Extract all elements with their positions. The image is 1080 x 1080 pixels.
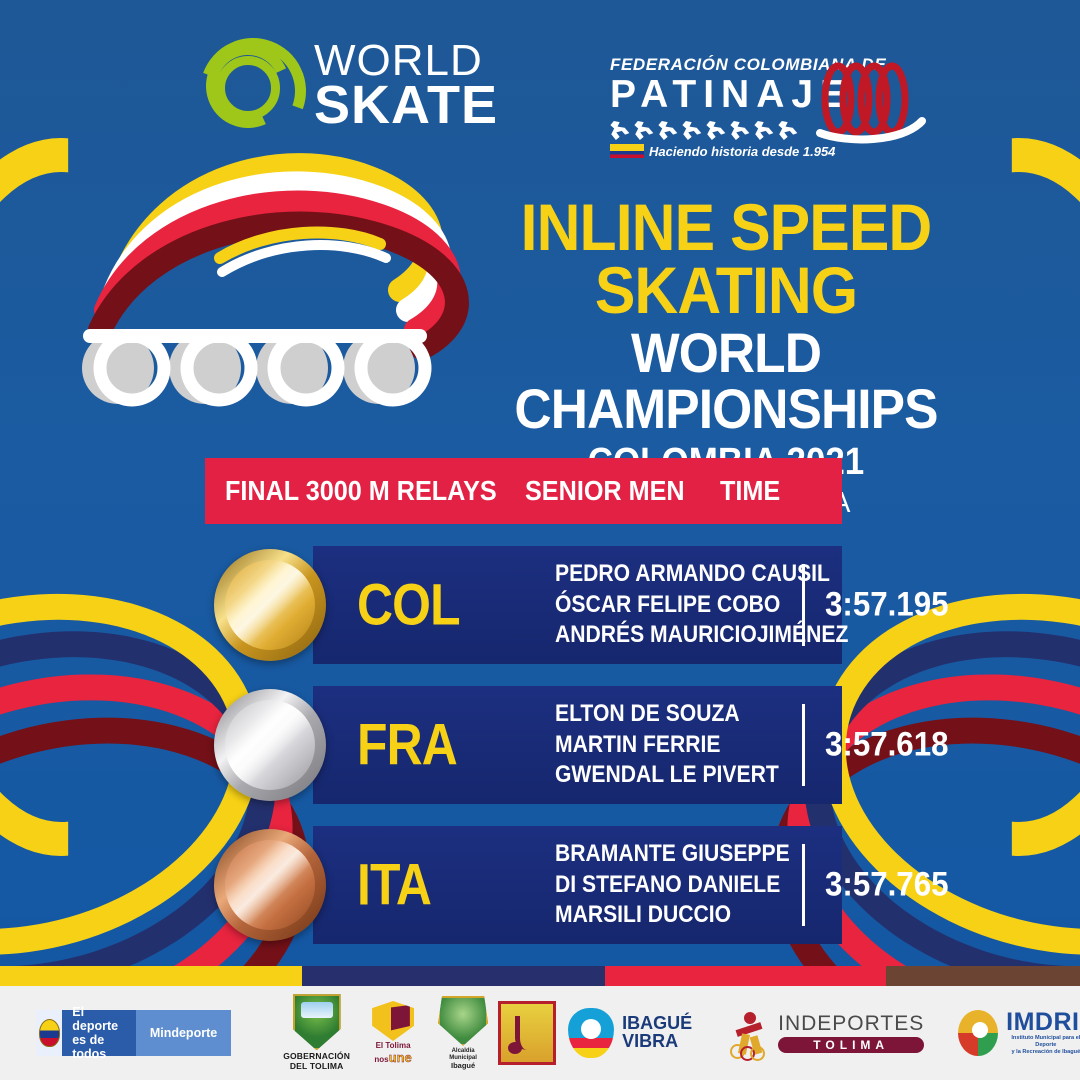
gobernacion-line2: DEL TOLIMA [283,1062,350,1072]
mindeporte-line1: El deporte [72,1005,126,1033]
alcaldia-line2: Ibagué [451,1061,475,1070]
athlete-name: MARSILI DUCCIO [555,900,790,931]
federation-helix-icon [816,59,926,145]
athlete-names: BRAMANTE GIUSEPPE DI STEFANO DANIELE MAR… [555,839,822,931]
inline-skate-illustration [70,140,490,410]
sponsor-mindeporte: El deporte es de todos Mindeporte [36,1000,231,1066]
table-row: ITA BRAMANTE GIUSEPPE DI STEFANO DANIELE… [205,826,842,944]
bronze-medal-icon [205,820,335,950]
mindeporte-label: Mindeporte [136,1010,231,1056]
sponsor-alcaldia-ibague: Alcaldía Municipal Ibagué [438,1000,488,1066]
sponsor-ibague-vibra: IBAGUÉ VIBRA [568,1000,692,1066]
header-event: FINAL 3000 M RELAYS [225,475,495,507]
result-time: 3:57.618 [825,726,948,765]
color-strip [0,966,1080,986]
country-code: FRA [357,712,457,779]
tolima-une-line3: une [389,1050,412,1065]
sponsor-indeportes-tolima: INDEPORTES TOLIMA [728,1000,924,1066]
athlete-name: BRAMANTE GIUSEPPE [555,839,790,870]
colombia-crest-icon [36,1010,62,1056]
imdri-line2: y la Recreación de Ibagué [1006,1049,1080,1056]
sponsor-festival-musical [498,1000,556,1066]
indeportes-line1: INDEPORTES [778,1013,924,1034]
sponsor-gobernacion-tolima: GOBERNACIÓN DEL TOLIMA [283,1000,350,1066]
indeportes-line2: TOLIMA [778,1037,924,1053]
athlete-name: GWENDAL LE PIVERT [555,760,779,791]
federation-logo: FEDERACIÓN COLOMBIANA DE PATINAJE Hacien… [610,55,920,160]
country-code: COL [357,572,460,639]
location-pin-icon [568,1008,614,1058]
tolima-shield-icon [293,994,341,1050]
imdri-line1: Instituto Municipal para el Deporte [1006,1035,1080,1049]
world-skate-logo: WORLD SKATE [200,38,498,134]
result-time: 3:57.765 [825,866,948,905]
world-skate-spiral-icon [200,38,296,134]
row-divider [802,844,805,926]
mindeporte-line2: es de todos [72,1033,126,1061]
world-skate-line2: SKATE [314,81,498,131]
sponsor-imdri: IMDRI Instituto Municipal para el Deport… [958,1000,1080,1066]
colombia-flag-icon [610,144,644,158]
country-code: ITA [357,852,431,919]
header-category: SENIOR MEN [525,475,701,507]
imdri-acronym: IMDRI [1006,1010,1080,1035]
sponsor-tolima-nos-une: El Tolima nosune [372,1000,414,1066]
results-table: FINAL 3000 M RELAYS SENIOR MEN TIME COL … [205,458,842,944]
title-line1: INLINE SPEED SKATING [454,196,999,323]
athlete-names: ELTON DE SOUZA MARTIN FERRIE GWENDAL LE … [555,699,809,791]
table-header: FINAL 3000 M RELAYS SENIOR MEN TIME [205,458,842,524]
row-divider [802,564,805,646]
imdri-emblem-icon [958,1010,998,1056]
row-divider [802,704,805,786]
handshake-icon [372,1001,414,1041]
sponsor-footer: El deporte es de todos Mindeporte GOBERN… [0,986,1080,1080]
ibague-vibra-line2: VIBRA [622,1033,692,1051]
result-time: 3:57.195 [825,586,948,625]
federation-tagline: Haciendo historia desde 1.954 [649,144,835,159]
athlete-name: ELTON DE SOUZA [555,699,779,730]
gold-medal-icon [205,540,335,670]
title-line2: WORLD CHAMPIONSHIPS [454,325,999,437]
music-note-icon [498,1001,556,1065]
silver-medal-icon [205,680,335,810]
ibague-shield-icon [438,996,488,1046]
results-poster: WORLD SKATE FEDERACIÓN COLOMBIANA DE PAT… [0,0,1080,1080]
athlete-figure-icon [728,1010,770,1056]
table-row: COL PEDRO ARMANDO CAUSIL ÓSCAR FELIPE CO… [205,546,842,664]
athlete-name: DI STEFANO DANIELE [555,870,790,901]
athlete-name: MARTIN FERRIE [555,730,779,761]
table-row: FRA ELTON DE SOUZA MARTIN FERRIE GWENDAL… [205,686,842,804]
tolima-une-line2: nos [374,1055,388,1064]
header-time: TIME [720,475,828,507]
alcaldia-line1: Alcaldía Municipal [438,1048,488,1062]
